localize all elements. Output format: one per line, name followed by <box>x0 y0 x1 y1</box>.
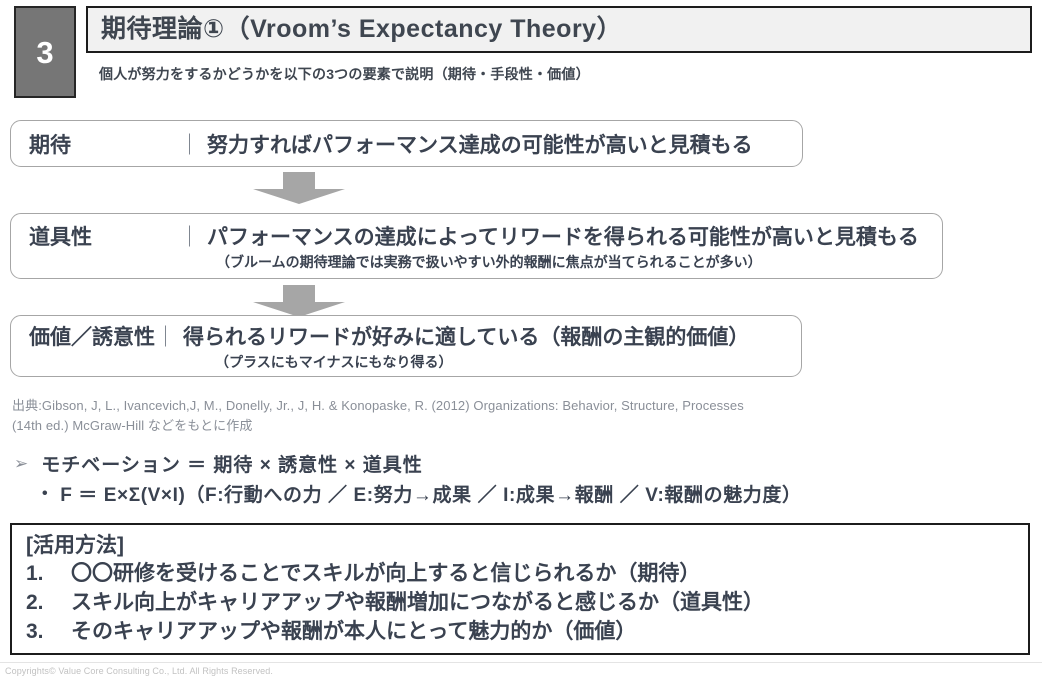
concept-text-expectancy: 努力すればパフォーマンス達成の可能性が高いと見積もる <box>207 129 753 159</box>
list-item-text: そのキャリアアップや報酬が本人にとって魅力的か（価値） <box>71 618 636 647</box>
concept-label-valence: 価値／誘意性 <box>29 321 155 351</box>
formula-line-motivation: ➢ モチベーション ＝ 期待 × 誘意性 × 道具性 <box>14 450 1034 477</box>
list-item-text: 〇〇研修を受けることでスキルが向上すると信じられるか（期待） <box>71 560 700 589</box>
title-bar: 期待理論①（Vroom’s Expectancy Theory） <box>86 6 1032 53</box>
dot-bullet-icon: • <box>42 486 60 502</box>
source-line-1: 出典:Gibson, J, L., Ivancevich,J, M., Done… <box>12 396 912 416</box>
concept-label-expectancy: 期待 <box>11 129 179 159</box>
list-item: 2. スキル向上がキャリアアップや報酬増加につながると感じるか（道具性） <box>26 589 1028 618</box>
application-list: 1. 〇〇研修を受けることでスキルが向上すると信じられるか（期待） 2. スキル… <box>26 560 1028 647</box>
list-item-number: 1. <box>26 560 71 589</box>
concept-note-valence: （プラスにもマイナスにもなり得る） <box>11 352 801 372</box>
concept-label-instrumentality: 道具性 <box>11 221 179 251</box>
concept-row: 期待 ｜ 努力すればパフォーマンス達成の可能性が高いと見積もる <box>11 121 802 166</box>
page-subtitle: 個人が努力をするかどうかを以下の3つの要素で説明（期待・手段性・価値） <box>99 64 590 84</box>
page-title: 期待理論①（Vroom’s Expectancy Theory） <box>88 17 622 42</box>
slide-root: 3 期待理論①（Vroom’s Expectancy Theory） 個人が努力… <box>0 0 1042 681</box>
formula-block: ➢ モチベーション ＝ 期待 × 誘意性 × 道具性 • F ＝ E×Σ(V×I… <box>14 450 1034 507</box>
list-item: 3. そのキャリアアップや報酬が本人にとって魅力的か（価値） <box>26 618 1028 647</box>
concept-stack: 価値／誘意性 ｜ 得られるリワードが好みに適している（報酬の主観的価値） （プラ… <box>11 316 801 376</box>
down-arrow-icon <box>253 172 345 204</box>
formula-text-force: F ＝ E×Σ(V×I)（F:行動への力 ／ E:努力→成果 ／ I:成果→報酬… <box>60 480 801 507</box>
concept-separator: ｜ <box>155 321 183 351</box>
source-line-2: (14th ed.) McGraw-Hill などをもとに作成 <box>12 416 912 436</box>
concept-note-instrumentality: （ブルームの期待理論では実務で扱いやすい外的報酬に焦点が当てられることが多い） <box>11 252 942 272</box>
concept-box-instrumentality: 道具性 ｜ パフォーマンスの達成によってリワードを得られる可能性が高いと見積もる… <box>10 213 943 279</box>
slide-number-badge: 3 <box>14 6 76 98</box>
concept-text-valence: 得られるリワードが好みに適している（報酬の主観的価値） <box>183 321 749 351</box>
formula-line-force: • F ＝ E×Σ(V×I)（F:行動への力 ／ E:努力→成果 ／ I:成果→… <box>14 480 1034 507</box>
arrow-bullet-icon: ➢ <box>14 455 41 472</box>
concept-row: 道具性 ｜ パフォーマンスの達成によってリワードを得られる可能性が高いと見積もる <box>11 221 942 251</box>
list-item-number: 3. <box>26 618 71 647</box>
concept-separator: ｜ <box>179 221 207 251</box>
list-item-text: スキル向上がキャリアアップや報酬増加につながると感じるか（道具性） <box>71 589 764 618</box>
formula-text-motivation: モチベーション ＝ 期待 × 誘意性 × 道具性 <box>41 450 423 477</box>
concept-box-valence: 価値／誘意性 ｜ 得られるリワードが好みに適している（報酬の主観的価値） （プラ… <box>10 315 802 377</box>
concept-box-expectancy: 期待 ｜ 努力すればパフォーマンス達成の可能性が高いと見積もる <box>10 120 803 167</box>
application-box: [活用方法] 1. 〇〇研修を受けることでスキルが向上すると信じられるか（期待）… <box>10 523 1030 655</box>
footer-divider <box>0 662 1042 663</box>
footer-copyright: Copyrights© Value Core Consulting Co., L… <box>5 666 273 676</box>
slide-header: 3 期待理論①（Vroom’s Expectancy Theory） 個人が努力… <box>0 0 1042 104</box>
concept-text-instrumentality: パフォーマンスの達成によってリワードを得られる可能性が高いと見積もる <box>207 221 919 251</box>
concept-separator: ｜ <box>179 129 207 159</box>
concept-stack: 道具性 ｜ パフォーマンスの達成によってリワードを得られる可能性が高いと見積もる… <box>11 214 942 278</box>
source-citation: 出典:Gibson, J, L., Ivancevich,J, M., Done… <box>12 396 912 436</box>
list-item: 1. 〇〇研修を受けることでスキルが向上すると信じられるか（期待） <box>26 560 1028 589</box>
concept-row: 価値／誘意性 ｜ 得られるリワードが好みに適している（報酬の主観的価値） <box>11 321 801 351</box>
list-item-number: 2. <box>26 589 71 618</box>
down-arrow-icon <box>253 285 345 317</box>
application-title: [活用方法] <box>26 532 1028 560</box>
